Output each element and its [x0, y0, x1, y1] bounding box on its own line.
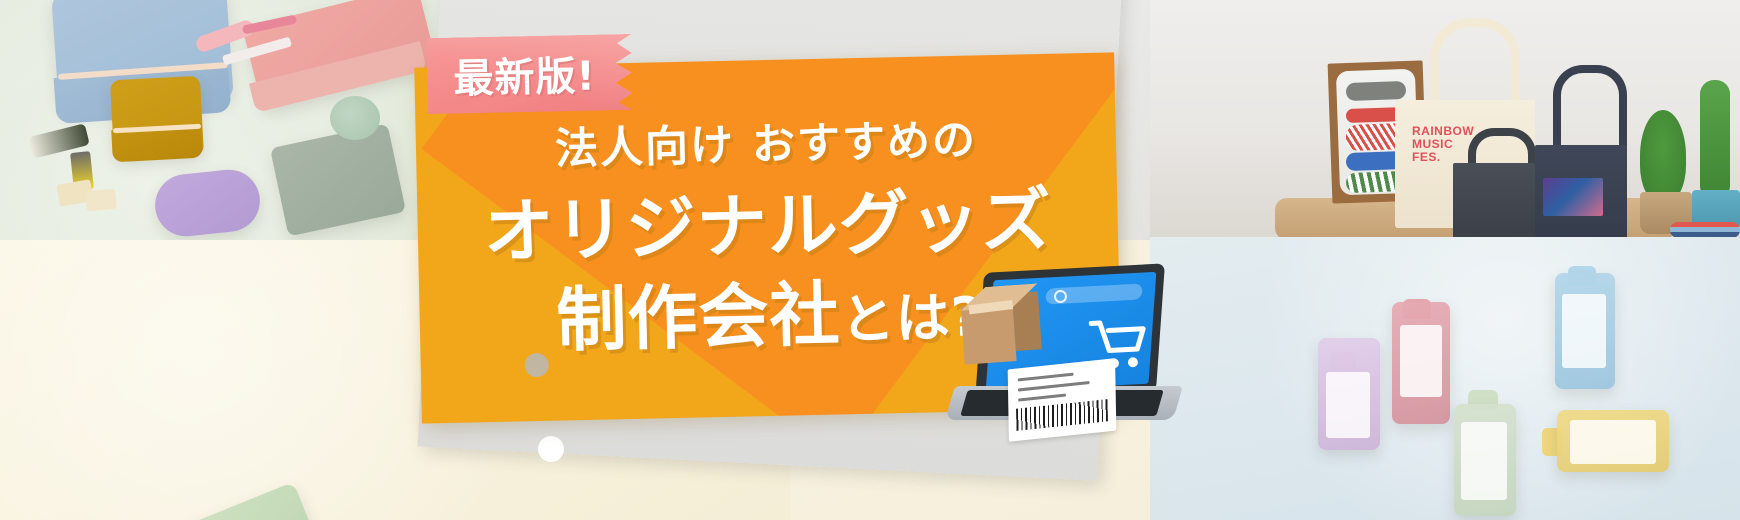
- mint-power-bank: [182, 482, 318, 520]
- tote-handle-navy: [1553, 65, 1627, 157]
- bottle-label-lavender: [1326, 372, 1370, 438]
- bottle-label-blue: [1562, 294, 1606, 368]
- tote-navy-graphic-print: [1543, 178, 1603, 216]
- purple-pouch: [152, 167, 263, 240]
- small-card-b: [85, 188, 117, 211]
- green-plant: [1640, 110, 1686, 202]
- stacked-books: [1670, 222, 1740, 237]
- mint-scrunchie: [330, 96, 380, 140]
- cactus: [1700, 80, 1730, 200]
- paper-hole-bottom: [538, 436, 564, 462]
- bottle-label-yellow: [1570, 420, 1656, 464]
- orange-panel-hole: [524, 353, 549, 378]
- cardboard-box-icon: [959, 283, 1042, 364]
- tote-bag-black: [1453, 163, 1535, 237]
- bottle-label-green: [1461, 422, 1507, 500]
- receipt-line-2: [1018, 381, 1090, 392]
- receipt-line-3: [1018, 394, 1066, 402]
- receipt-line-1: [1018, 373, 1074, 382]
- photo-clear-bottles: [1150, 237, 1740, 520]
- promo-banner: RAINBOW MUSIC FES.: [0, 0, 1740, 520]
- photo-tote-bags: RAINBOW MUSIC FES.: [1150, 0, 1740, 237]
- grey-pouch: [270, 124, 406, 237]
- bottle-label-pink: [1400, 325, 1442, 397]
- ecommerce-illustration: [950, 268, 1185, 448]
- latest-edition-badge-label: 最新版!: [426, 34, 623, 114]
- poster-stripe-1: [1346, 81, 1407, 101]
